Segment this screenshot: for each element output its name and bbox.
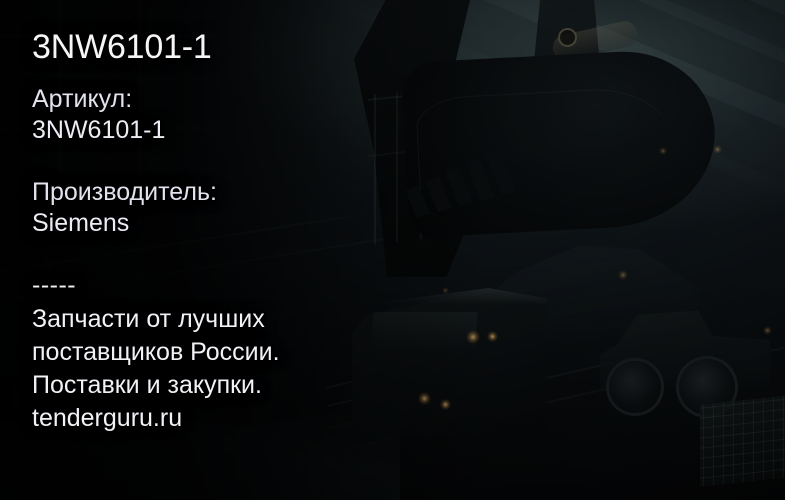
mesh-crate-silhouette [700, 395, 785, 486]
article-label: Артикул: [32, 84, 165, 115]
work-lamp-icon [466, 330, 480, 344]
hydraulic-linkage-icon [550, 19, 640, 64]
manufacturer-label: Производитель: [32, 177, 217, 208]
site-url: tenderguru.ru [32, 402, 182, 435]
work-lamp-icon [713, 145, 722, 154]
hydraulic-pin-icon [558, 28, 577, 47]
product-banner-card: 3NW6101-1 Артикул: 3NW6101-1 Производите… [0, 0, 785, 500]
wheel-loader-silhouette [600, 300, 770, 405]
work-lamp-icon [487, 331, 498, 342]
excavator-stick-silhouette [500, 0, 640, 200]
page-title: 3NW6101-1 [32, 28, 212, 66]
tagline-text: Запчасти от лучших поставщиков России. П… [32, 303, 280, 402]
card-content: 3NW6101-1 Артикул: 3NW6101-1 Производите… [32, 0, 452, 500]
manufacturer-value: Siemens [32, 208, 217, 239]
work-lamp-icon [618, 270, 628, 280]
article-value: 3NW6101-1 [32, 115, 165, 146]
loader-wheel-front [676, 356, 738, 418]
excavator-bucket-rim [415, 85, 677, 219]
article-field: Артикул: 3NW6101-1 [32, 84, 165, 146]
background-distant-machine [490, 244, 700, 340]
work-lamp-icon [763, 326, 772, 335]
loader-wheel-rear [606, 358, 664, 416]
work-lamp-icon [659, 147, 667, 155]
divider: ----- [32, 272, 76, 298]
manufacturer-field: Производитель: Siemens [32, 177, 217, 239]
